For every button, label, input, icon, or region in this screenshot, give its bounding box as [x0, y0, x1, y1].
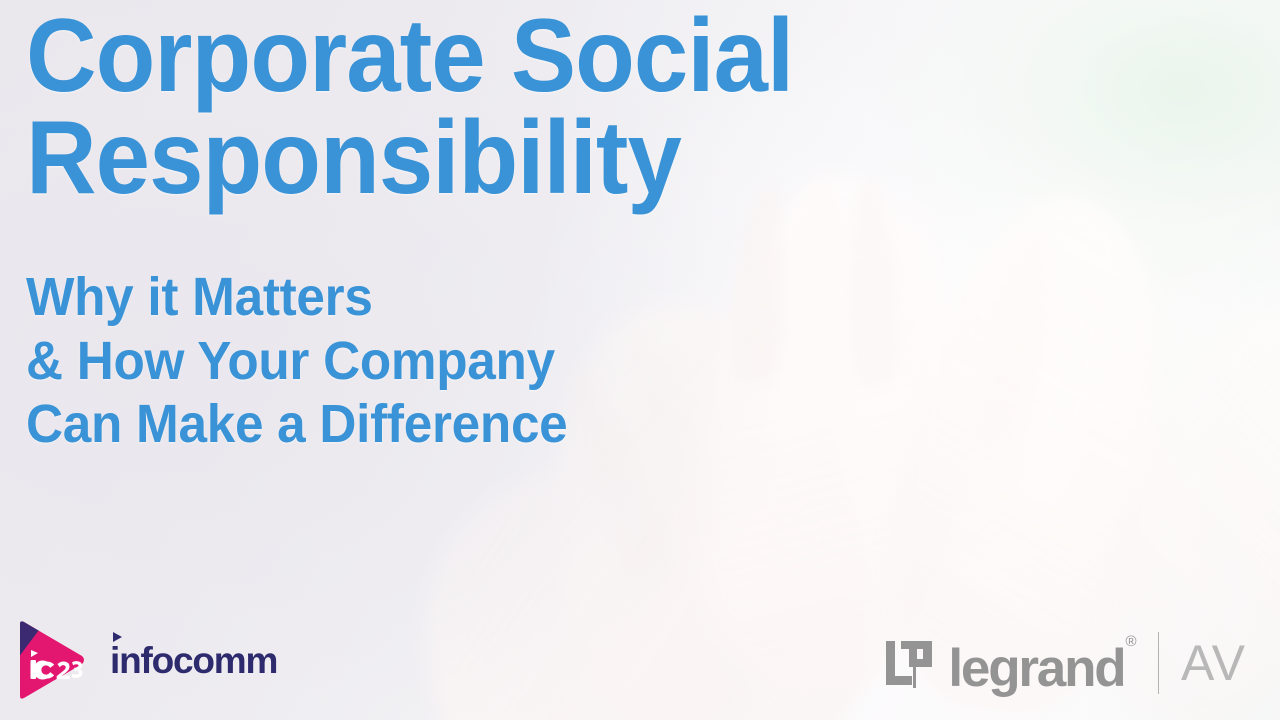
subtitle-line-1: Why it Matters — [26, 266, 957, 330]
infocomm-wordmark: infocomm — [110, 642, 277, 679]
title-line-1: Corporate Social — [26, 6, 947, 108]
legrand-av-logo: legrand® AV — [884, 632, 1246, 698]
legrand-lockup: legrand® — [884, 637, 1135, 693]
registered-trademark-icon: ® — [1125, 633, 1136, 650]
presentation-slide: Corporate Social Responsibility Why it M… — [0, 0, 1280, 720]
subtitle-line-2: & How Your Company — [26, 330, 957, 394]
infocomm-wordmark-text: infocomm — [110, 640, 277, 681]
infocomm-play-triangle-icon — [14, 618, 88, 702]
infocomm-logo: infocomm — [14, 618, 277, 702]
page-subtitle: Why it Matters & How Your Company Can Ma… — [26, 210, 957, 457]
logo-divider — [1158, 632, 1160, 694]
legrand-wordmark-text: legrand — [948, 639, 1124, 698]
legrand-bracket-icon — [884, 637, 938, 693]
title-line-2: Responsibility — [26, 108, 947, 210]
infocomm-play-dot-icon — [113, 632, 122, 642]
page-title: Corporate Social Responsibility — [26, 6, 947, 210]
subtitle-line-3: Can Make a Difference — [26, 393, 957, 457]
legrand-av-subbrand: AV — [1181, 638, 1246, 692]
legrand-wordmark: legrand® — [948, 646, 1135, 693]
slide-text-block: Corporate Social Responsibility Why it M… — [26, 6, 1006, 457]
